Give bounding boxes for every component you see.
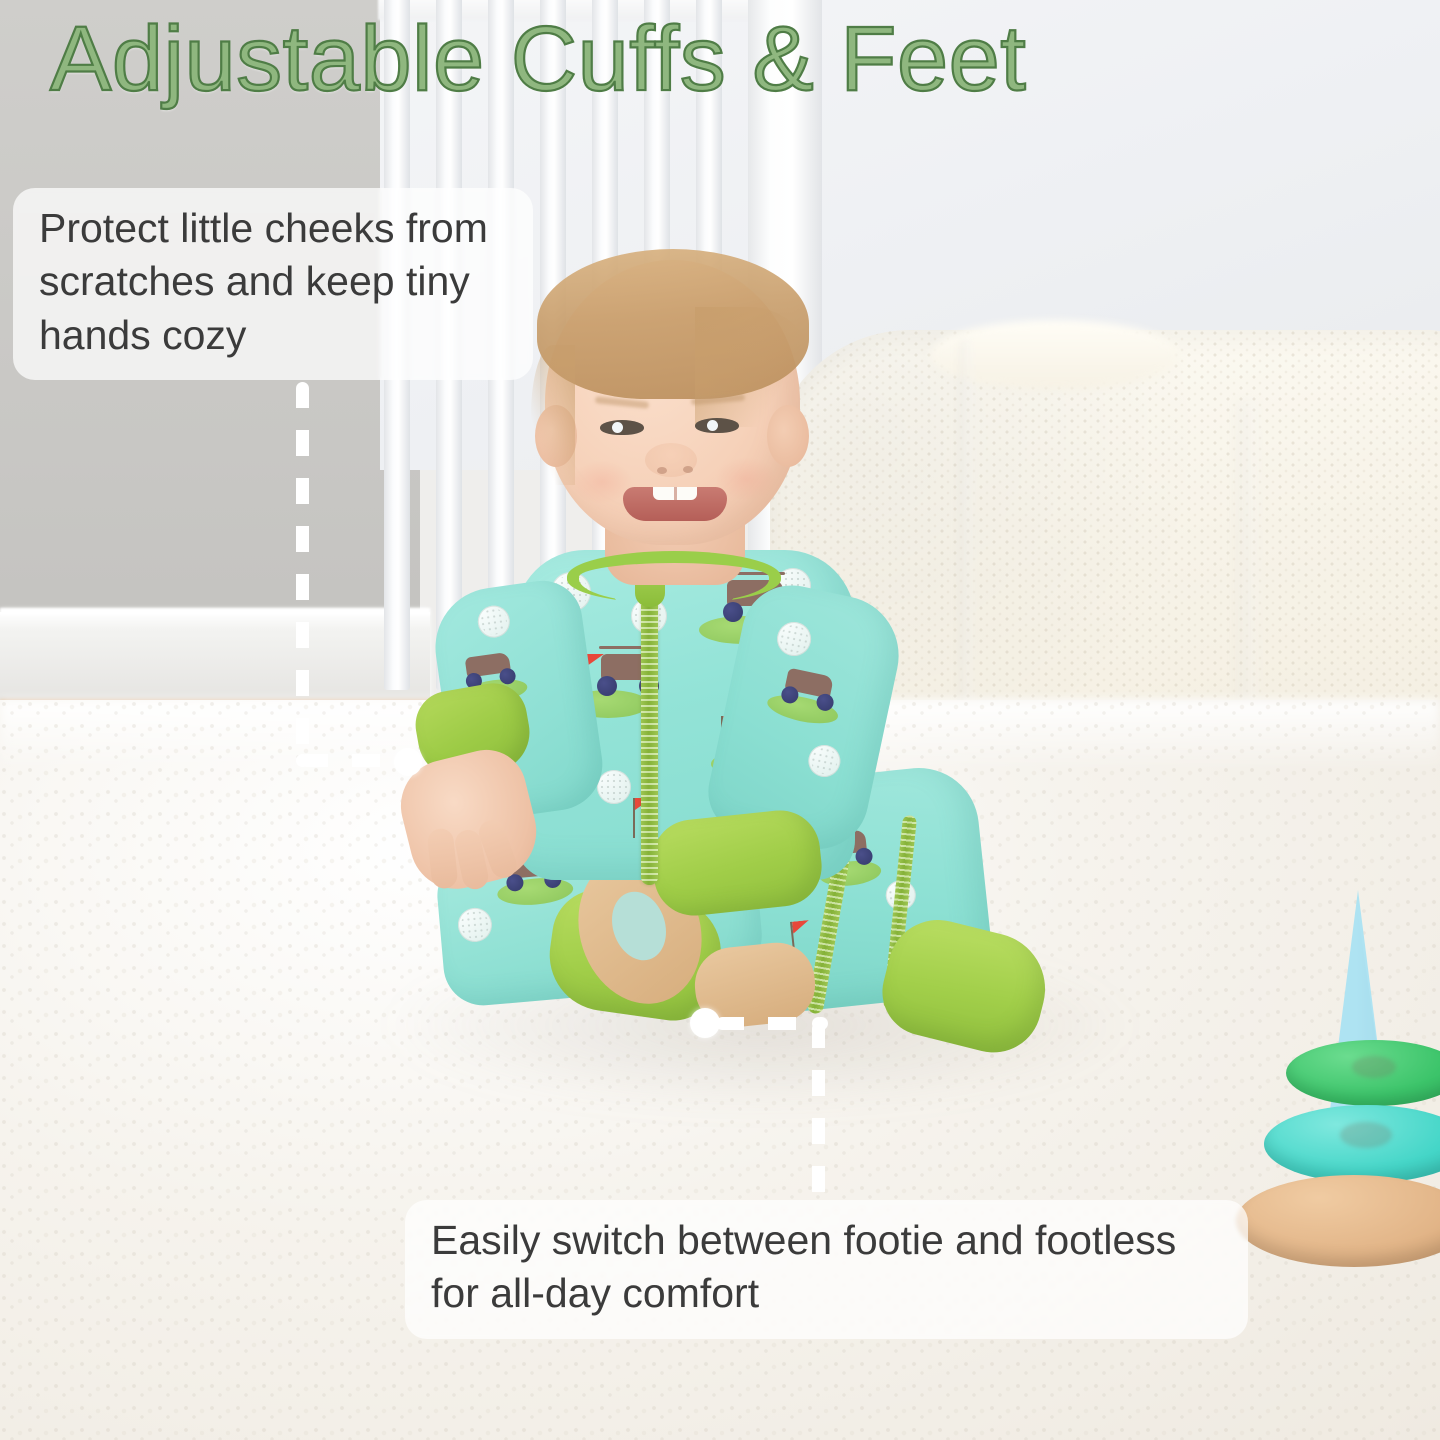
- feet-callout: Easily switch between footie and footles…: [405, 1200, 1248, 1339]
- pajama-collar: [567, 551, 781, 603]
- zipper-teeth: [641, 585, 658, 885]
- hair-side: [531, 345, 575, 485]
- flag-pole-motif: [633, 798, 635, 838]
- eye-right: [695, 418, 739, 433]
- product-feature-image: Adjustable Cuffs & Feet Protect little c…: [0, 0, 1440, 1440]
- red-flag-motif: [792, 920, 810, 934]
- golf-cart-wheel: [597, 676, 617, 696]
- tooth-gap: [674, 487, 677, 500]
- cuff-connector-horizontal: [300, 754, 392, 767]
- stacking-ring-toy: [1278, 890, 1440, 1310]
- baseboard-trim: [0, 608, 430, 615]
- two-way-zipper: [641, 585, 658, 885]
- toy-ring-hole: [1352, 1056, 1396, 1078]
- golf-ball-motif: [457, 907, 494, 944]
- baseboard: [0, 612, 430, 708]
- golf-ball-motif: [597, 770, 631, 804]
- toy-ring-hole: [1340, 1122, 1392, 1148]
- cuff-connector-vertical: [296, 382, 309, 760]
- golf-ball-motif: [805, 742, 843, 780]
- cuff-connector-endpoint: [394, 748, 422, 776]
- foot-connector-vertical: [812, 1022, 825, 1204]
- eye-left: [600, 420, 644, 435]
- finger: [426, 827, 458, 889]
- cuffs-callout: Protect little cheeks from scratches and…: [13, 188, 533, 380]
- golf-ball-motif: [476, 604, 512, 640]
- mouth: [623, 487, 727, 521]
- page-title: Adjustable Cuffs & Feet: [50, 8, 1026, 111]
- golf-cart-wheel: [723, 602, 743, 622]
- nostril: [657, 467, 667, 474]
- golf-ball-motif: [774, 619, 814, 659]
- nostril: [683, 466, 693, 473]
